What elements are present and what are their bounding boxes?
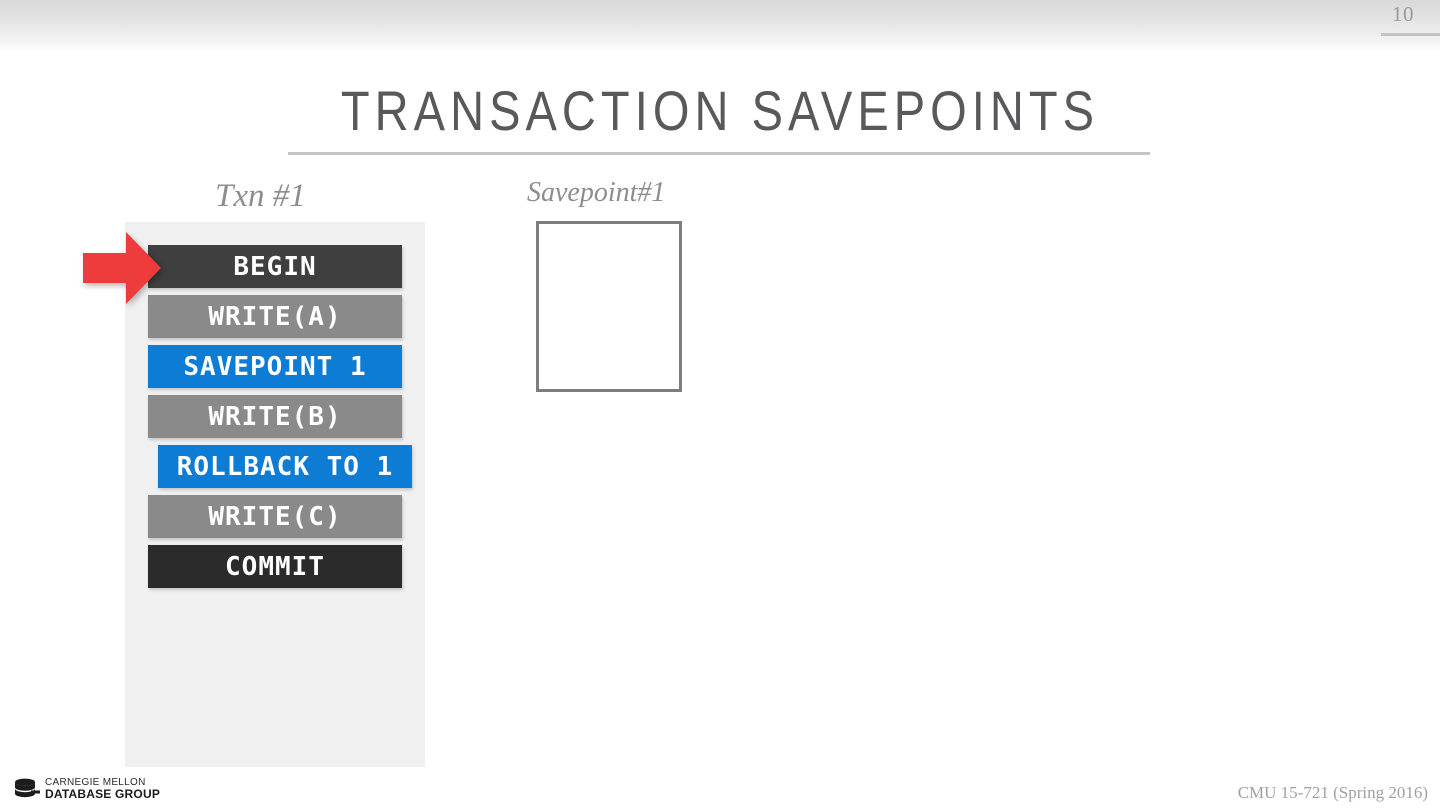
txn-operation-list: BEGINWRITE(A)SAVEPOINT 1WRITE(B)ROLLBACK… [148,245,402,595]
savepoint-box [536,221,682,392]
page-number-rule [1381,33,1440,36]
txn-operation-block: BEGIN [148,245,402,288]
savepoint-column-label: Savepoint#1 [527,177,665,209]
cmu-database-group-logo: CARNEGIE MELLON DATABASE GROUP [14,778,160,801]
course-footer: CMU 15-721 (Spring 2016) [1238,783,1428,803]
txn-operation-label: WRITE(C) [208,502,341,532]
title-divider [288,152,1150,155]
txn-operation-block: WRITE(A) [148,295,402,338]
red-right-arrow-icon [83,232,161,304]
txn-operation-block: WRITE(B) [148,395,402,438]
txn-operation-label: WRITE(A) [208,302,341,332]
txn-operation-block: WRITE(C) [148,495,402,538]
logo-line-2: DATABASE GROUP [45,788,160,801]
page-number: 10 [1392,2,1414,27]
txn-column-label: Txn #1 [215,178,306,215]
txn-operation-block: COMMIT [148,545,402,588]
database-cylinder-icon [14,778,40,800]
txn-operation-label: WRITE(B) [208,402,341,432]
txn-operation-label: COMMIT [225,552,325,582]
txn-operation-block: ROLLBACK TO 1 [158,445,412,488]
txn-operation-block: SAVEPOINT 1 [148,345,402,388]
txn-operation-label: SAVEPOINT 1 [183,352,366,382]
header-band [0,0,1440,52]
txn-operation-label: BEGIN [233,252,316,282]
page-title: TRANSACTION SAVEPOINTS [115,78,1325,143]
txn-operation-label: ROLLBACK TO 1 [177,452,394,482]
